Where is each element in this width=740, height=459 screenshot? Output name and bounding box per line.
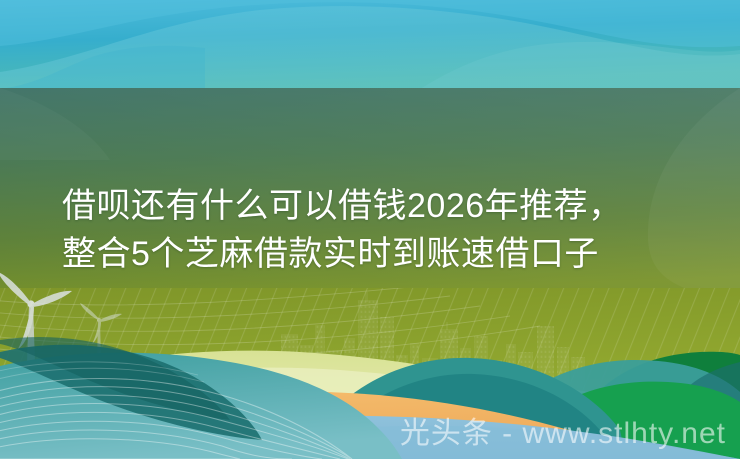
headline-band-shape [0,88,740,300]
banner-artwork [0,0,740,459]
promo-banner: 借呗还有什么可以借钱2026年推荐， 整合5个芝麻借款实时到账速借口子 光头条 … [0,0,740,459]
sky-gradient-shape [0,0,740,89]
